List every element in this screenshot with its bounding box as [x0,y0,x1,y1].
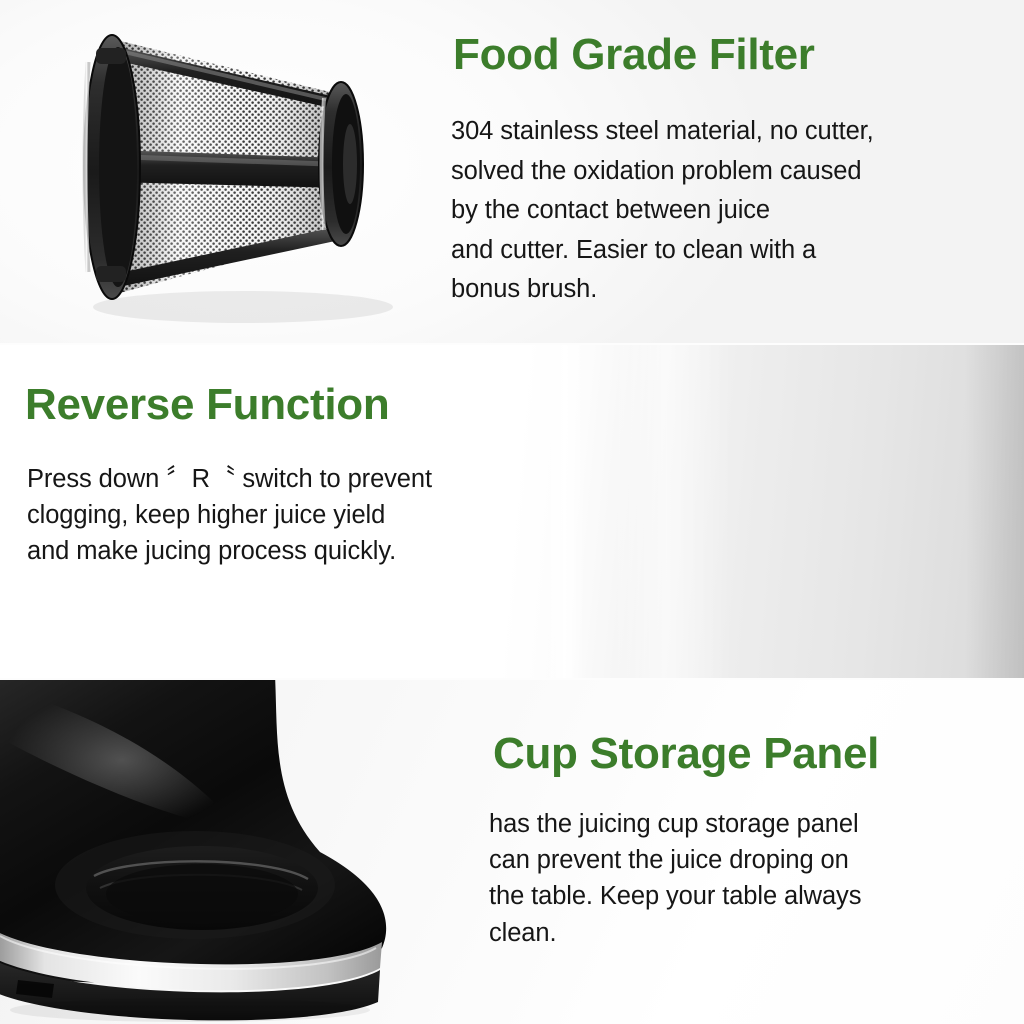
section-reverse-function: Reverse Function Press down 〞R〝 switch t… [0,345,1024,678]
section-2-body: Press down 〞R〝 switch to prevent cloggin… [27,461,567,570]
juicer-base-cup-tray-photo [0,680,460,1024]
juicer-base-illustration [0,680,460,1024]
section-1-body: 304 stainless steel material, no cutter,… [451,112,1017,310]
filter-illustration [38,2,428,332]
product-feature-infographic: Food Grade Filter 304 stainless steel ma… [0,0,1024,1024]
section-1-heading: Food Grade Filter [453,33,815,77]
section-food-grade-filter: Food Grade Filter 304 stainless steel ma… [0,0,1024,343]
section-cup-storage-panel: Cup Storage Panel has the juicing cup st… [0,680,1024,1024]
section-3-body: has the juicing cup storage panel can pr… [489,806,1019,951]
stainless-steel-filter-photo [38,2,428,332]
section-2-heading: Reverse Function [25,383,389,427]
section-3-heading: Cup Storage Panel [493,732,879,776]
